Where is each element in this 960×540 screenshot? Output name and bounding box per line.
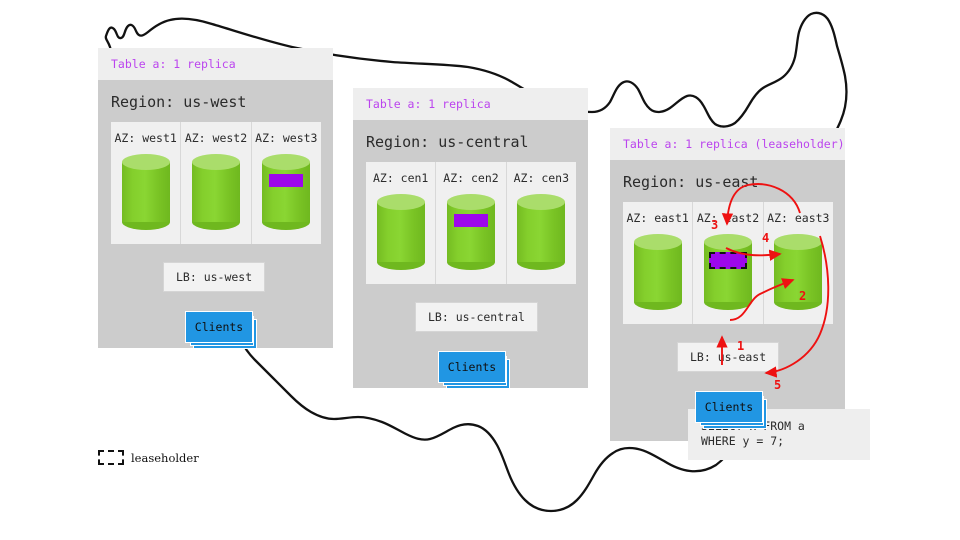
db-cylinder-cen1[interactable] — [377, 194, 425, 270]
cylinder-body-icon — [192, 162, 240, 222]
leaseholder-swatch-icon — [98, 450, 124, 465]
flow-step-number-5: 5 — [774, 378, 781, 392]
cylinder-top-icon — [262, 154, 310, 170]
db-cylinder-west2[interactable] — [192, 154, 240, 230]
az-cell-east3[interactable]: AZ: east3 — [764, 202, 833, 324]
flow-step-number-3: 3 — [711, 218, 718, 232]
load-balancer-us-west[interactable]: LB: us-west — [163, 262, 265, 292]
panel-header-us-central: Table a: 1 replica — [353, 88, 588, 120]
cylinder-body-icon — [704, 242, 752, 302]
db-cylinder-east2[interactable] — [704, 234, 752, 310]
clients-label-us-central: Clients — [438, 351, 506, 383]
region-panel-us-central: Table a: 1 replica Region: us-central AZ… — [353, 88, 588, 388]
load-balancer-us-east[interactable]: LB: us-east — [677, 342, 779, 372]
az-cell-cen3[interactable]: AZ: cen3 — [507, 162, 576, 284]
db-cylinder-cen2[interactable] — [447, 194, 495, 270]
cylinder-top-icon — [447, 194, 495, 210]
db-cylinder-cen3[interactable] — [517, 194, 565, 270]
cylinder-body-icon — [377, 202, 425, 262]
panel-header-us-west: Table a: 1 replica — [98, 48, 333, 80]
clients-us-west[interactable]: Clients — [185, 311, 251, 345]
az-cell-west2[interactable]: AZ: west2 — [181, 122, 251, 244]
az-cell-east1[interactable]: AZ: east1 — [623, 202, 693, 324]
cylinder-body-icon — [517, 202, 565, 262]
flow-step-number-2: 2 — [799, 289, 806, 303]
cylinder-body-icon — [447, 202, 495, 262]
az-label-east2: AZ: east2 — [697, 211, 759, 225]
panel-body-us-east: Region: us-east AZ: east1 AZ: east2 — [610, 160, 845, 441]
region-panel-us-east: Table a: 1 replica (leaseholder) Region:… — [610, 128, 845, 441]
az-cell-cen1[interactable]: AZ: cen1 — [366, 162, 436, 284]
cylinder-top-icon — [634, 234, 682, 250]
cylinder-top-icon — [377, 194, 425, 210]
az-cell-east2[interactable]: AZ: east2 — [693, 202, 763, 324]
az-label-cen3: AZ: cen3 — [514, 171, 569, 185]
load-balancer-us-central[interactable]: LB: us-central — [415, 302, 538, 332]
flow-step-number-4: 4 — [762, 231, 769, 245]
replica-bar-west3 — [269, 174, 303, 187]
clients-us-east[interactable]: Clients — [695, 391, 761, 425]
az-label-east1: AZ: east1 — [627, 211, 689, 225]
panel-body-us-central: Region: us-central AZ: cen1 AZ: cen2 — [353, 120, 588, 388]
diagram-canvas: Table a: 1 replica Region: us-west AZ: w… — [0, 0, 960, 540]
legend-label: leaseholder — [131, 451, 199, 465]
region-title-us-central: Region: us-central — [353, 120, 588, 162]
az-label-east3: AZ: east3 — [767, 211, 829, 225]
cylinder-top-icon — [774, 234, 822, 250]
az-label-cen2: AZ: cen2 — [443, 171, 498, 185]
cylinder-body-icon — [262, 162, 310, 222]
region-panel-us-west: Table a: 1 replica Region: us-west AZ: w… — [98, 48, 333, 348]
az-label-west3: AZ: west3 — [255, 131, 317, 145]
db-cylinder-east1[interactable] — [634, 234, 682, 310]
az-row-us-west: AZ: west1 AZ: west2 — [111, 122, 321, 244]
panel-header-us-east: Table a: 1 replica (leaseholder) — [610, 128, 845, 160]
clients-label-us-east: Clients — [695, 391, 763, 423]
az-row-us-central: AZ: cen1 AZ: cen2 — [366, 162, 576, 284]
az-label-west2: AZ: west2 — [185, 131, 247, 145]
cylinder-body-icon — [122, 162, 170, 222]
panel-body-us-west: Region: us-west AZ: west1 AZ: west2 — [98, 80, 333, 348]
cylinder-top-icon — [517, 194, 565, 210]
az-row-us-east: AZ: east1 AZ: east2 — [623, 202, 833, 324]
region-title-us-east: Region: us-east — [610, 160, 845, 202]
cylinder-top-icon — [704, 234, 752, 250]
clients-label-us-west: Clients — [185, 311, 253, 343]
clients-us-central[interactable]: Clients — [438, 351, 504, 385]
flow-step-number-1: 1 — [737, 339, 744, 353]
az-cell-west3[interactable]: AZ: west3 — [252, 122, 321, 244]
db-cylinder-west3[interactable] — [262, 154, 310, 230]
az-label-cen1: AZ: cen1 — [373, 171, 428, 185]
legend-leaseholder: leaseholder — [98, 450, 199, 465]
az-cell-west1[interactable]: AZ: west1 — [111, 122, 181, 244]
replica-bar-cen2 — [454, 214, 488, 227]
cylinder-top-icon — [122, 154, 170, 170]
region-title-us-west: Region: us-west — [98, 80, 333, 122]
leaseholder-replica-bar-east2 — [709, 252, 747, 269]
az-label-west1: AZ: west1 — [115, 131, 177, 145]
az-cell-cen2[interactable]: AZ: cen2 — [436, 162, 506, 284]
cylinder-body-icon — [634, 242, 682, 302]
cylinder-top-icon — [192, 154, 240, 170]
db-cylinder-west1[interactable] — [122, 154, 170, 230]
